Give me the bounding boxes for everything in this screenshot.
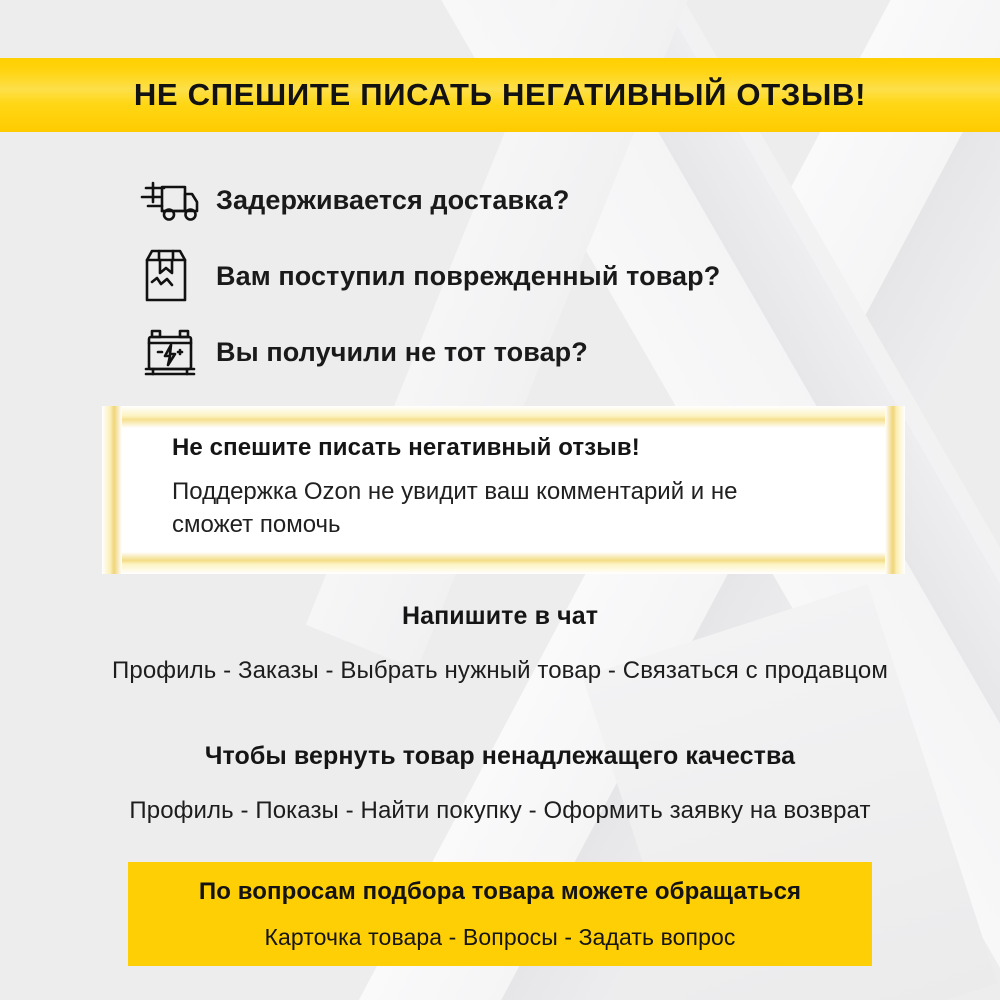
callout-glow-bottom [102,552,905,574]
promo-banner-page: НЕ СПЕШИТЕ ПИСАТЬ НЕГАТИВНЫЙ ОТЗЫВ! [0,0,1000,1000]
chat-instructions-path: Профиль - Заказы - Выбрать нужный товар … [0,657,1000,685]
headline-text: НЕ СПЕШИТЕ ПИСАТЬ НЕГАТИВНЫЙ ОТЗЫВ! [134,77,866,113]
contact-footer-title: По вопросам подбора товара можете обраща… [199,878,801,906]
contact-footer-box: По вопросам подбора товара можете обраща… [128,862,872,966]
headline-banner: НЕ СПЕШИТЕ ПИСАТЬ НЕГАТИВНЫЙ ОТЗЫВ! [0,58,1000,132]
damaged-box-icon [140,247,216,305]
callout-content: Не спешите писать негативный отзыв! Подд… [172,434,865,542]
return-instructions-block: Чтобы вернуть товар ненадлежащего качест… [0,742,1000,825]
callout-body: Поддержка Ozon не увидит ваш комментарий… [172,476,812,542]
issues-list: Задерживается доставка? Вам поступил пов… [140,162,930,390]
callout-glow-right [885,406,905,574]
delivery-truck-icon [140,177,216,223]
issue-item-label: Вам поступил поврежденный товар? [216,261,720,292]
issue-item-wrong-product: Вы получили не тот товар? [140,314,930,390]
callout-title: Не спешите писать негативный отзыв! [172,434,865,462]
chat-instructions-heading: Напишите в чат [0,602,1000,631]
return-instructions-path: Профиль - Показы - Найти покупку - Оформ… [0,797,1000,825]
car-battery-icon [140,325,216,379]
issue-item-delivery-delayed: Задерживается доставка? [140,162,930,238]
return-instructions-heading: Чтобы вернуть товар ненадлежащего качест… [0,742,1000,771]
issue-item-label: Задерживается доставка? [216,185,569,216]
issue-item-label: Вы получили не тот товар? [216,337,588,368]
issue-item-damaged-goods: Вам поступил поврежденный товар? [140,238,930,314]
chat-instructions-block: Напишите в чат Профиль - Заказы - Выбрат… [0,602,1000,685]
warning-callout: Не спешите писать негативный отзыв! Подд… [102,406,905,574]
contact-footer-path: Карточка товара - Вопросы - Задать вопро… [265,924,736,951]
callout-glow-top [102,406,905,428]
callout-glow-left [102,406,122,574]
